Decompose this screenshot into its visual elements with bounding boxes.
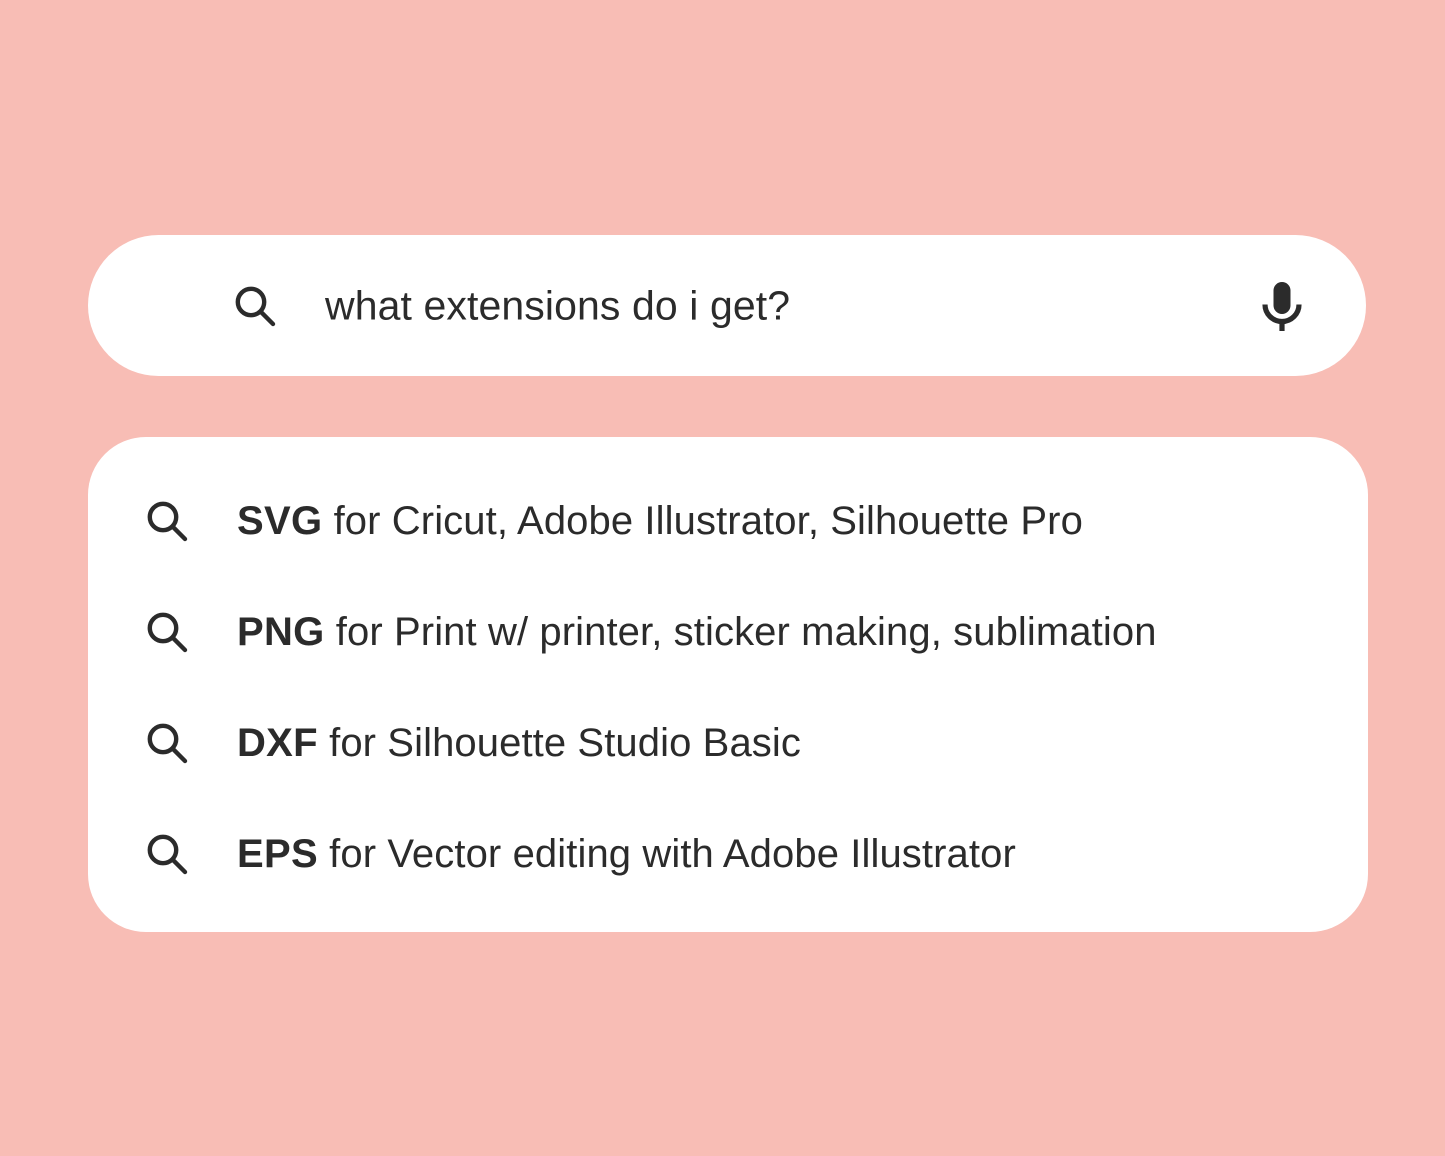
- suggestion-description: for Cricut, Adobe Illustrator, Silhouett…: [322, 499, 1083, 543]
- suggestion-text: DXF for Silhouette Studio Basic: [237, 723, 801, 763]
- list-item[interactable]: DXF for Silhouette Studio Basic: [88, 687, 1368, 798]
- search-icon: [145, 610, 189, 654]
- suggestion-description: for Vector editing with Adobe Illustrato…: [318, 832, 1016, 876]
- search-icon: [145, 832, 189, 876]
- suggestion-text: SVG for Cricut, Adobe Illustrator, Silho…: [237, 501, 1083, 541]
- list-item[interactable]: PNG for Print w/ printer, sticker making…: [88, 576, 1368, 687]
- suggestion-format: EPS: [237, 832, 318, 876]
- list-item[interactable]: SVG for Cricut, Adobe Illustrator, Silho…: [88, 465, 1368, 576]
- suggestion-format: DXF: [237, 721, 318, 765]
- suggestion-format: PNG: [237, 610, 325, 654]
- search-input[interactable]: what extensions do i get?: [325, 285, 790, 326]
- microphone-icon[interactable]: [1252, 276, 1312, 336]
- suggestion-text: PNG for Print w/ printer, sticker making…: [237, 612, 1157, 652]
- search-bar[interactable]: what extensions do i get?: [88, 235, 1366, 376]
- list-item[interactable]: EPS for Vector editing with Adobe Illust…: [88, 798, 1368, 909]
- suggestions-card: SVG for Cricut, Adobe Illustrator, Silho…: [88, 437, 1368, 932]
- search-icon: [145, 499, 189, 543]
- suggestion-text: EPS for Vector editing with Adobe Illust…: [237, 834, 1016, 874]
- suggestion-description: for Print w/ printer, sticker making, su…: [325, 610, 1157, 654]
- suggestion-description: for Silhouette Studio Basic: [318, 721, 801, 765]
- search-icon: [233, 284, 277, 328]
- suggestion-format: SVG: [237, 499, 322, 543]
- search-icon: [145, 721, 189, 765]
